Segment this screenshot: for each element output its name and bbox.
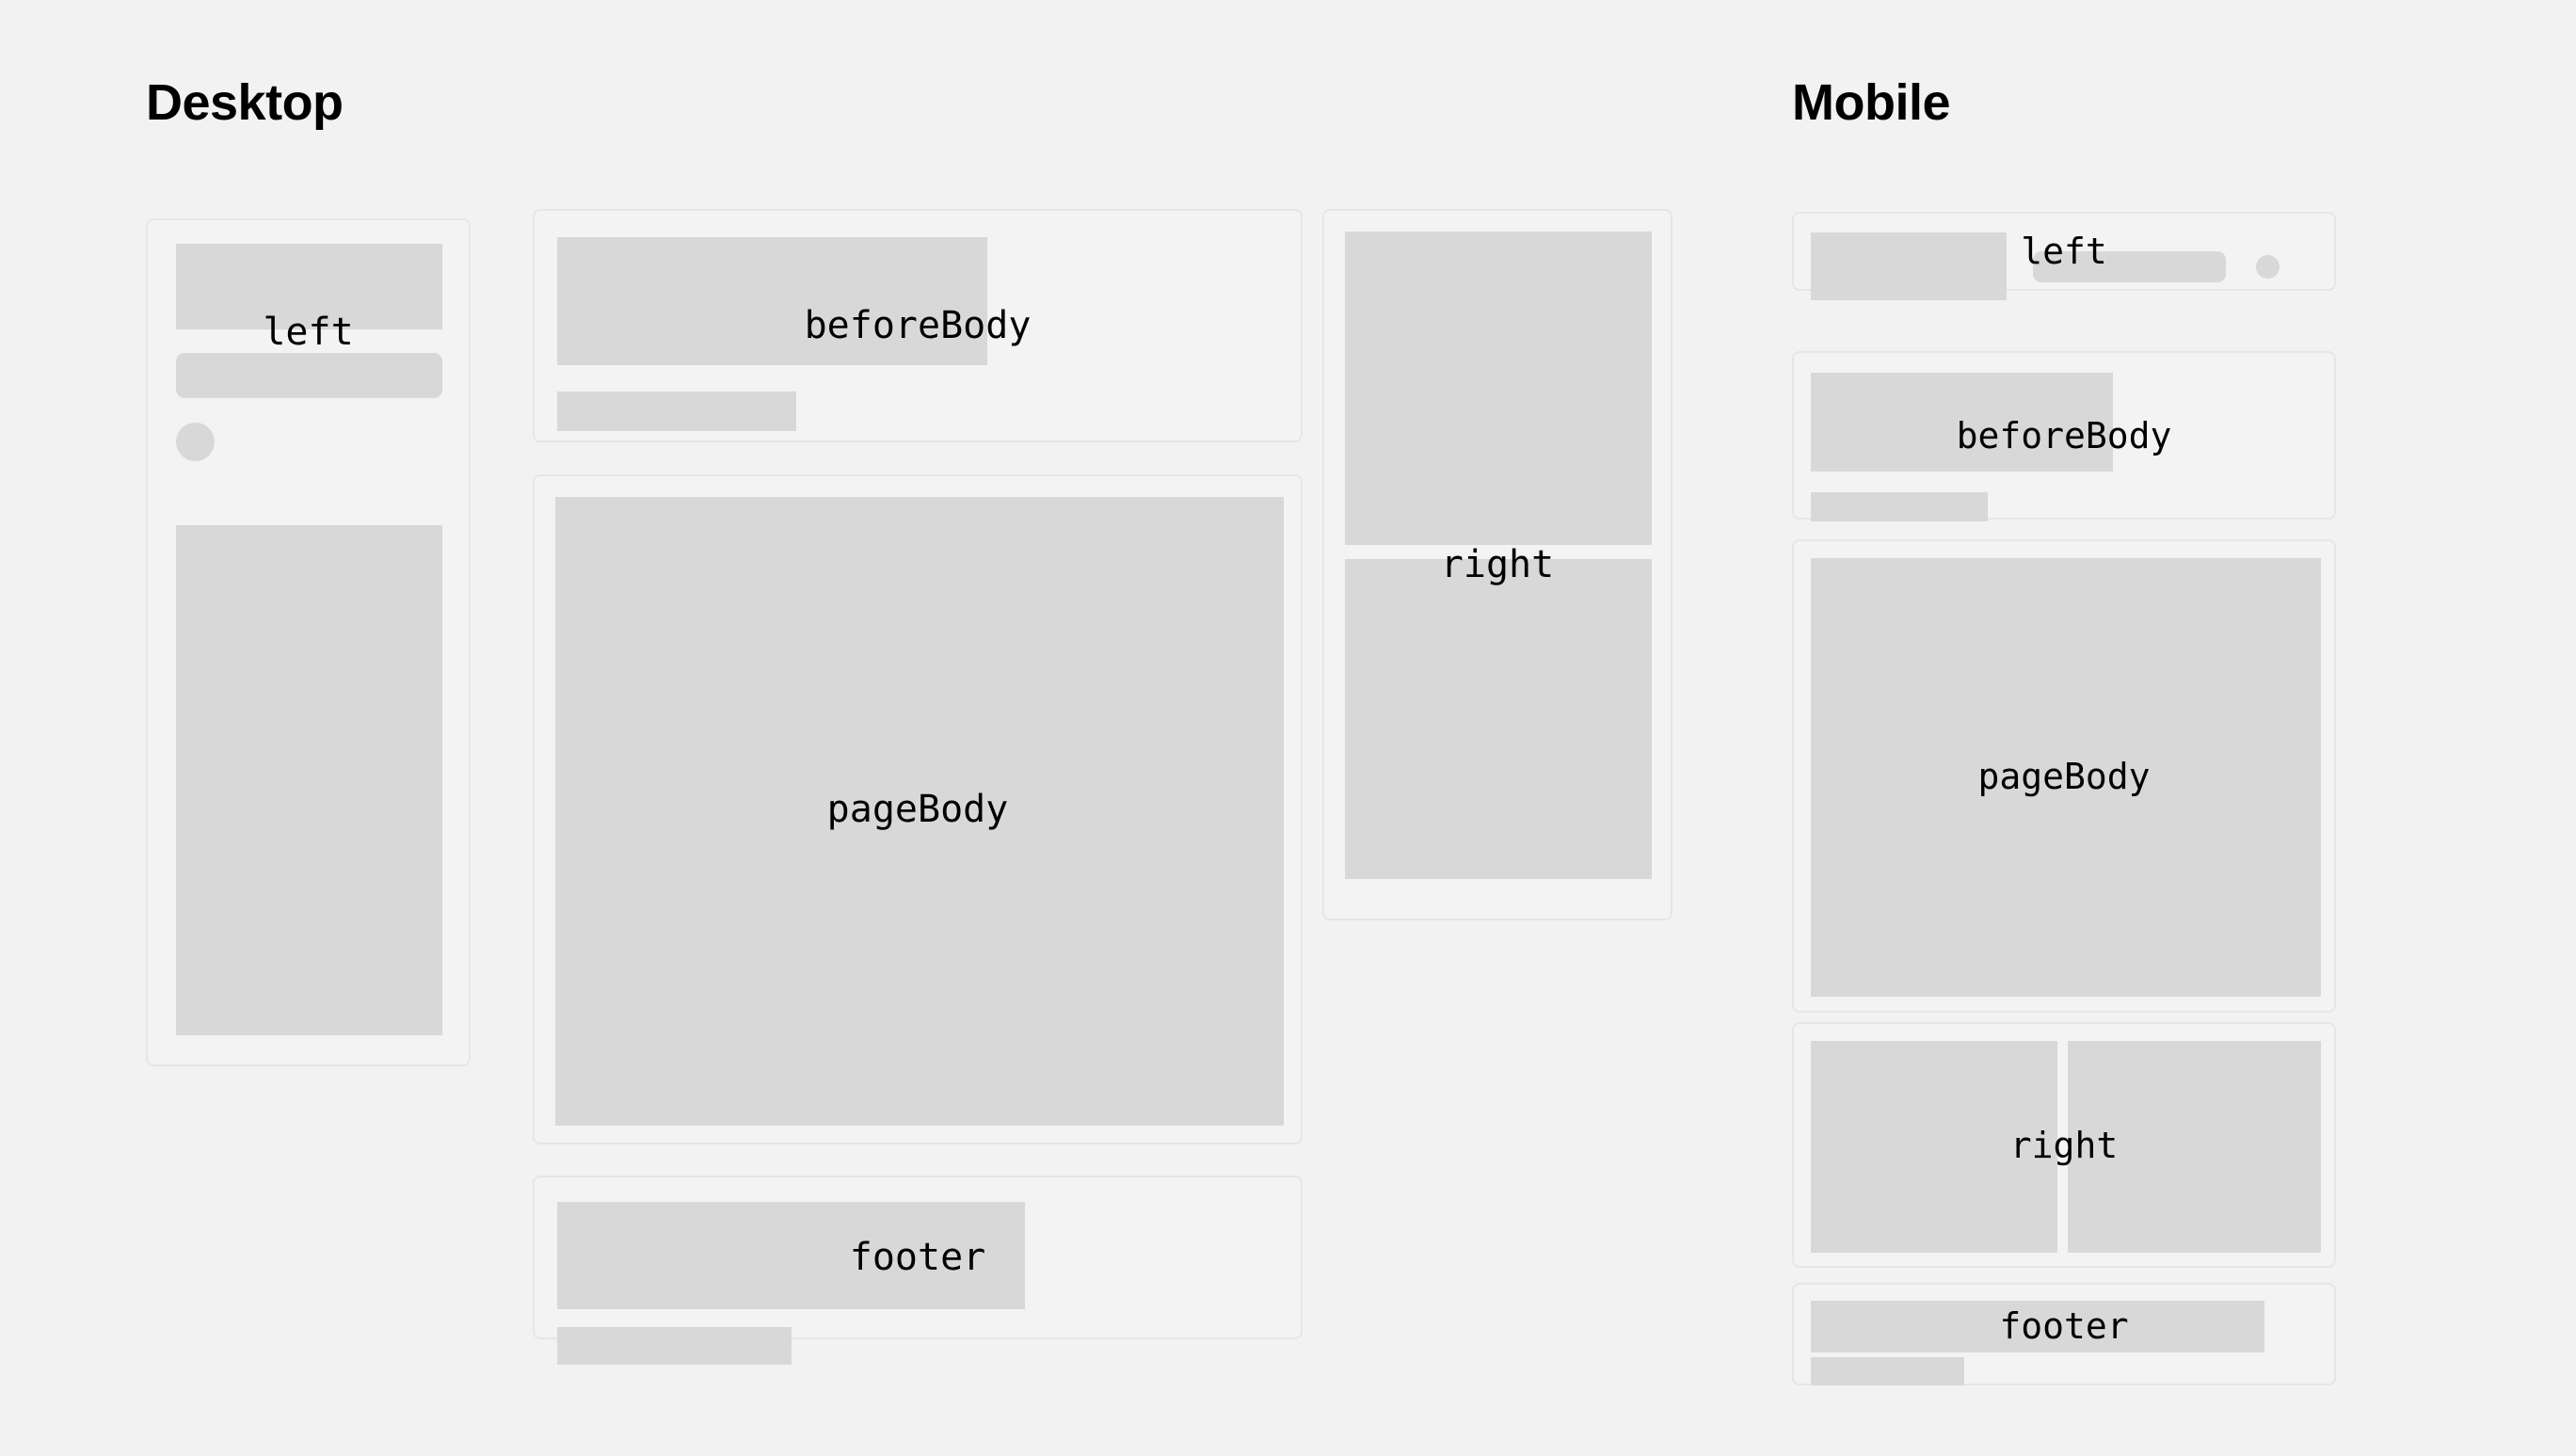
- column-title-desktop: Desktop: [146, 77, 344, 128]
- desktop-footer-label: footer: [850, 1239, 986, 1276]
- desktop-beforebody-label: beforeBody: [805, 307, 1032, 344]
- desktop-pagebody-label: pageBody: [827, 791, 1009, 828]
- mobile-right-label: right: [2010, 1128, 2118, 1163]
- desktop-right-label: right: [1441, 546, 1554, 584]
- desktop-footer-panel[interactable]: footer: [533, 1176, 1303, 1339]
- skeleton-avatar-circle: [176, 423, 215, 461]
- skeleton-bar: [557, 392, 796, 431]
- skeleton-block: [1811, 232, 2007, 300]
- mobile-beforebody-label: beforeBody: [1957, 418, 2172, 454]
- desktop-beforebody-panel[interactable]: beforeBody: [533, 209, 1303, 442]
- desktop-right-panel[interactable]: right: [1322, 209, 1672, 920]
- desktop-left-panel[interactable]: left: [146, 218, 471, 1066]
- skeleton-block: [176, 525, 442, 1035]
- skeleton-block: [1345, 559, 1652, 879]
- mobile-left-label: left: [2021, 233, 2107, 269]
- desktop-pagebody-panel[interactable]: pageBody: [533, 474, 1303, 1144]
- mobile-left-panel[interactable]: left: [1792, 212, 2336, 291]
- column-title-mobile: Mobile: [1792, 77, 1950, 128]
- skeleton-bar: [1811, 1357, 1964, 1385]
- mobile-footer-panel[interactable]: footer: [1792, 1283, 2336, 1385]
- mobile-beforebody-panel[interactable]: beforeBody: [1792, 351, 2336, 520]
- mobile-footer-label: footer: [1999, 1308, 2128, 1344]
- mobile-right-panel[interactable]: right: [1792, 1022, 2336, 1268]
- skeleton-avatar-circle: [2256, 255, 2280, 279]
- mobile-pagebody-panel[interactable]: pageBody: [1792, 539, 2336, 1013]
- skeleton-bar: [557, 1327, 792, 1365]
- wireframe-canvas: Desktop Mobile left beforeBody pageBody …: [0, 0, 2576, 1456]
- mobile-pagebody-label: pageBody: [1977, 759, 2150, 794]
- skeleton-bar: [1811, 492, 1988, 521]
- desktop-left-label: left: [263, 313, 353, 351]
- skeleton-bar: [176, 353, 442, 398]
- skeleton-block: [1345, 232, 1652, 545]
